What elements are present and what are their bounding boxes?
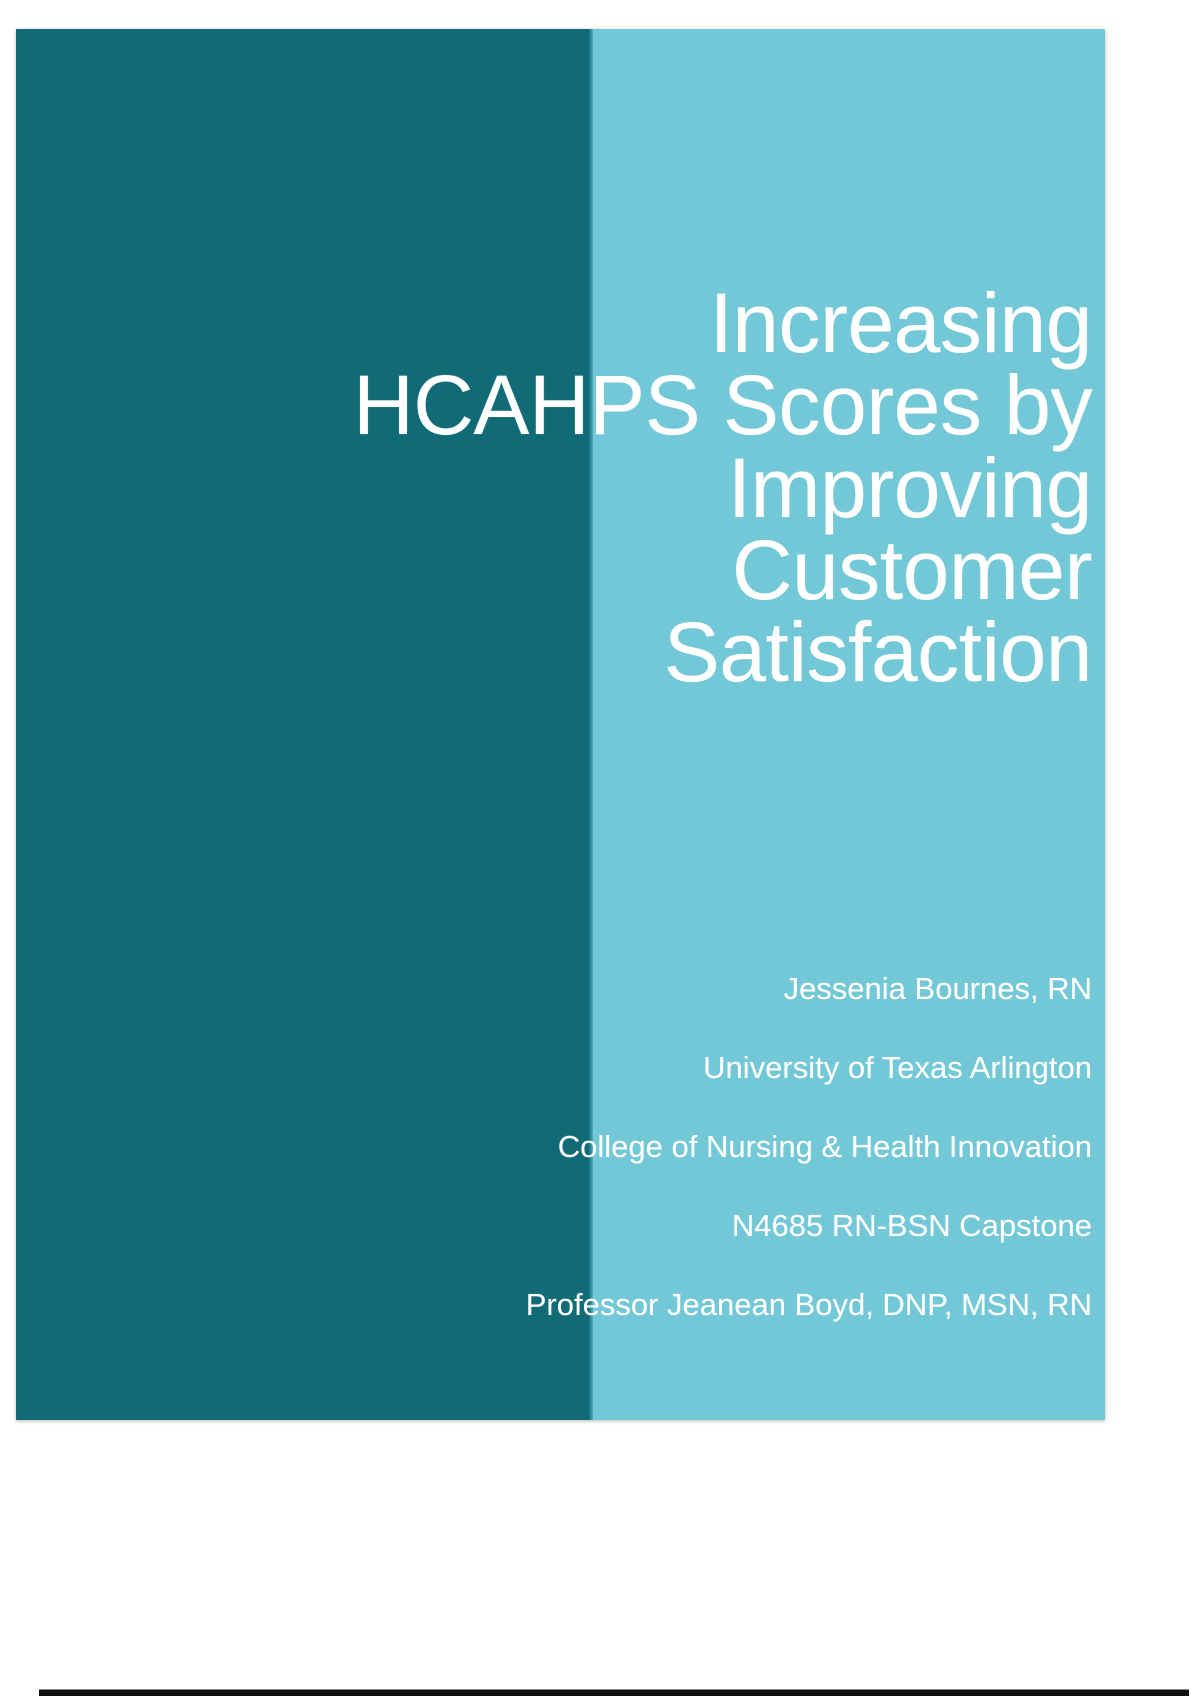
title-line-4: Customer xyxy=(196,529,1092,611)
slide-subtitle-author-block: Jessenia Bournes, RN University of Texas… xyxy=(116,949,1092,1344)
author-college: College of Nursing & Health Innovation xyxy=(116,1107,1092,1186)
document-page: Increasing HCAHPS Scores by Improving Cu… xyxy=(0,0,1200,1700)
title-slide[interactable]: Increasing HCAHPS Scores by Improving Cu… xyxy=(16,29,1105,1420)
title-line-3: Improving xyxy=(196,447,1092,529)
author-professor: Professor Jeanean Boyd, DNP, MSN, RN xyxy=(116,1265,1092,1344)
title-line-2: HCAHPS Scores by xyxy=(196,364,1092,446)
author-university: University of Texas Arlington xyxy=(116,1028,1092,1107)
author-name: Jessenia Bournes, RN xyxy=(116,949,1092,1028)
author-course: N4685 RN-BSN Capstone xyxy=(116,1186,1092,1265)
title-line-5: Satisfaction xyxy=(196,611,1092,693)
page-footer-rule xyxy=(39,1689,1189,1696)
title-line-1: Increasing xyxy=(196,282,1092,364)
slide-title: Increasing HCAHPS Scores by Improving Cu… xyxy=(196,282,1092,694)
